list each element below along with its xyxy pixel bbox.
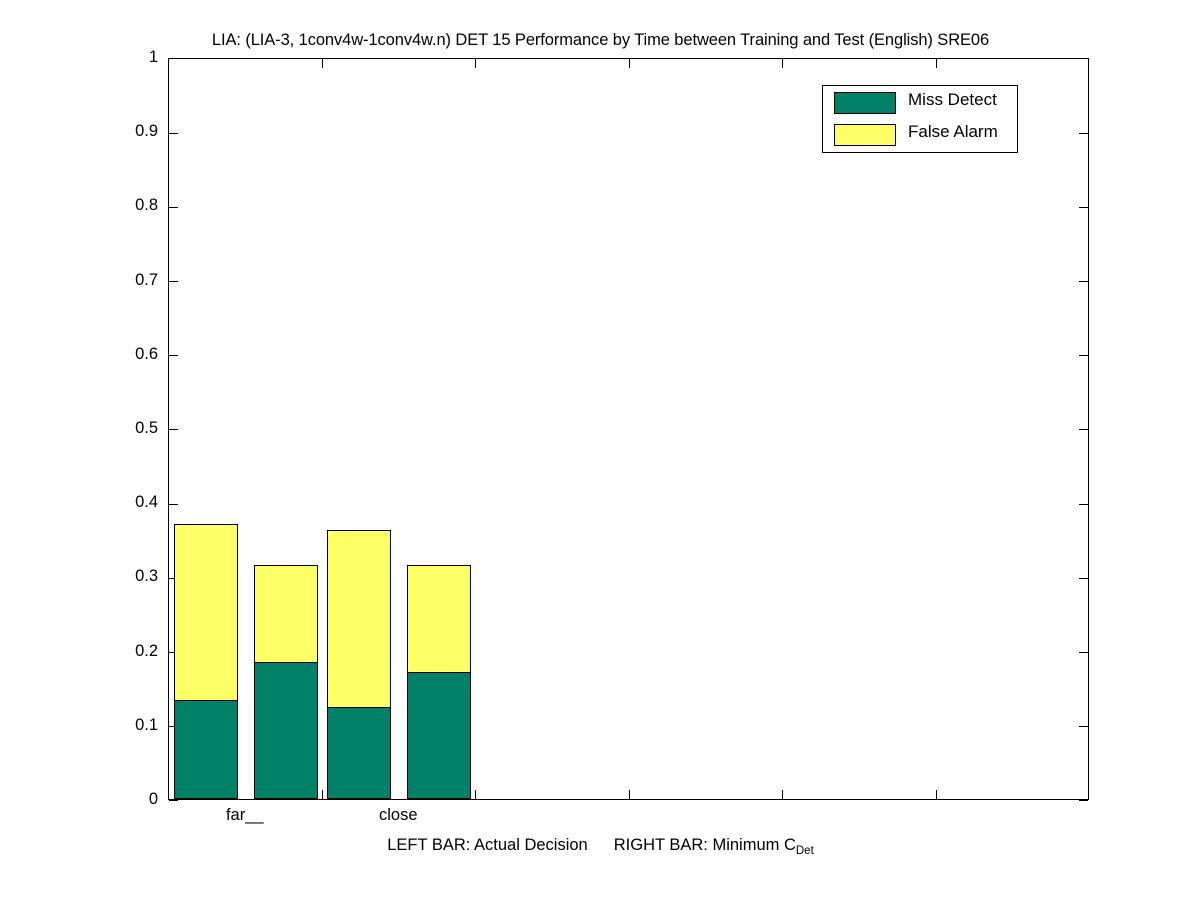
bar-segment-miss-detect[interactable] [327, 707, 391, 799]
y-axis-tick-mark [169, 207, 178, 208]
y-axis-tick-mark [169, 281, 178, 282]
bar[interactable] [254, 565, 318, 799]
bar-segment-miss-detect[interactable] [174, 700, 238, 799]
x-axis-tick-mark [322, 790, 323, 799]
x-axis-tick-mark [936, 59, 937, 68]
chart-caption: LEFT BAR: Actual DecisionRIGHT BAR: Mini… [0, 836, 1201, 855]
x-axis-tick-labels: far__close [168, 806, 1089, 832]
y-axis-tick-label: 0.3 [100, 568, 158, 585]
y-axis-tick-label: 0.4 [100, 494, 158, 511]
x-axis-tick-mark [475, 790, 476, 799]
y-axis-tick-mark [1079, 133, 1088, 134]
y-axis-tick-label: 0 [100, 791, 158, 808]
y-axis-tick-mark [1079, 652, 1088, 653]
y-axis-tick-mark [1079, 800, 1088, 801]
y-axis-tick-label: 0.1 [100, 717, 158, 734]
y-axis-tick-mark [1079, 429, 1088, 430]
x-axis-tick-mark [782, 59, 783, 68]
y-axis-tick-label: 0.8 [100, 197, 158, 214]
y-axis-tick-mark [1079, 281, 1088, 282]
x-axis-tick-mark [629, 790, 630, 799]
y-axis-tick-mark [169, 58, 178, 59]
y-axis-tick-label: 0.9 [100, 123, 158, 140]
caption-right-bar-text: RIGHT BAR: Minimum C [614, 836, 796, 854]
x-axis-tick-mark [629, 59, 630, 68]
bar-segment-miss-detect[interactable] [254, 662, 318, 799]
bar[interactable] [407, 565, 471, 799]
bar[interactable] [327, 530, 391, 799]
y-axis-tick-mark [1079, 355, 1088, 356]
legend-color-swatch [834, 124, 896, 146]
legend-label: Miss Detect [908, 90, 997, 110]
bar-segment-false-alarm[interactable] [327, 530, 391, 708]
figure-canvas: LIA: (LIA-3, 1conv4w-1conv4w.n) DET 15 P… [0, 0, 1201, 900]
y-axis-tick-label: 0.7 [100, 272, 158, 289]
y-axis-tick-mark [1079, 726, 1088, 727]
caption-left-bar-text: LEFT BAR: Actual Decision [387, 836, 588, 854]
caption-subscript-det: Det [796, 845, 814, 857]
y-axis-tick-mark [169, 355, 178, 356]
y-axis-tick-mark [1079, 578, 1088, 579]
chart-title: LIA: (LIA-3, 1conv4w-1conv4w.n) DET 15 P… [0, 31, 1201, 50]
legend-color-swatch [834, 92, 896, 114]
plot-inner [169, 59, 1088, 799]
y-axis-tick-mark [1079, 58, 1088, 59]
x-axis-category-label: close [379, 806, 418, 825]
y-axis-tick-mark [169, 429, 178, 430]
x-axis-tick-mark [782, 790, 783, 799]
bar-segment-false-alarm[interactable] [254, 565, 318, 663]
legend-row[interactable]: False Alarm [823, 119, 1017, 149]
y-axis-tick-mark [169, 800, 178, 801]
bar-segment-false-alarm[interactable] [174, 524, 238, 701]
y-axis-tick-label: 1 [100, 49, 158, 66]
x-axis-tick-mark [475, 59, 476, 68]
bar-segment-miss-detect[interactable] [407, 672, 471, 799]
y-axis-tick-mark [169, 133, 178, 134]
y-axis-tick-mark [1079, 504, 1088, 505]
y-axis-tick-label: 0.5 [100, 420, 158, 437]
legend-row[interactable]: Miss Detect [823, 87, 1017, 117]
y-axis-tick-mark [169, 504, 178, 505]
plot-area [168, 58, 1089, 800]
x-axis-tick-mark [322, 59, 323, 68]
bar-segment-false-alarm[interactable] [407, 565, 471, 673]
bar[interactable] [174, 524, 238, 799]
legend-label: False Alarm [908, 122, 998, 142]
x-axis-category-label: far__ [226, 806, 264, 825]
y-axis-tick-label: 0.6 [100, 346, 158, 363]
x-axis-tick-mark [936, 790, 937, 799]
y-axis-tick-mark [1079, 207, 1088, 208]
chart-legend[interactable]: Miss DetectFalse Alarm [822, 85, 1018, 153]
y-axis-tick-label: 0.2 [100, 643, 158, 660]
